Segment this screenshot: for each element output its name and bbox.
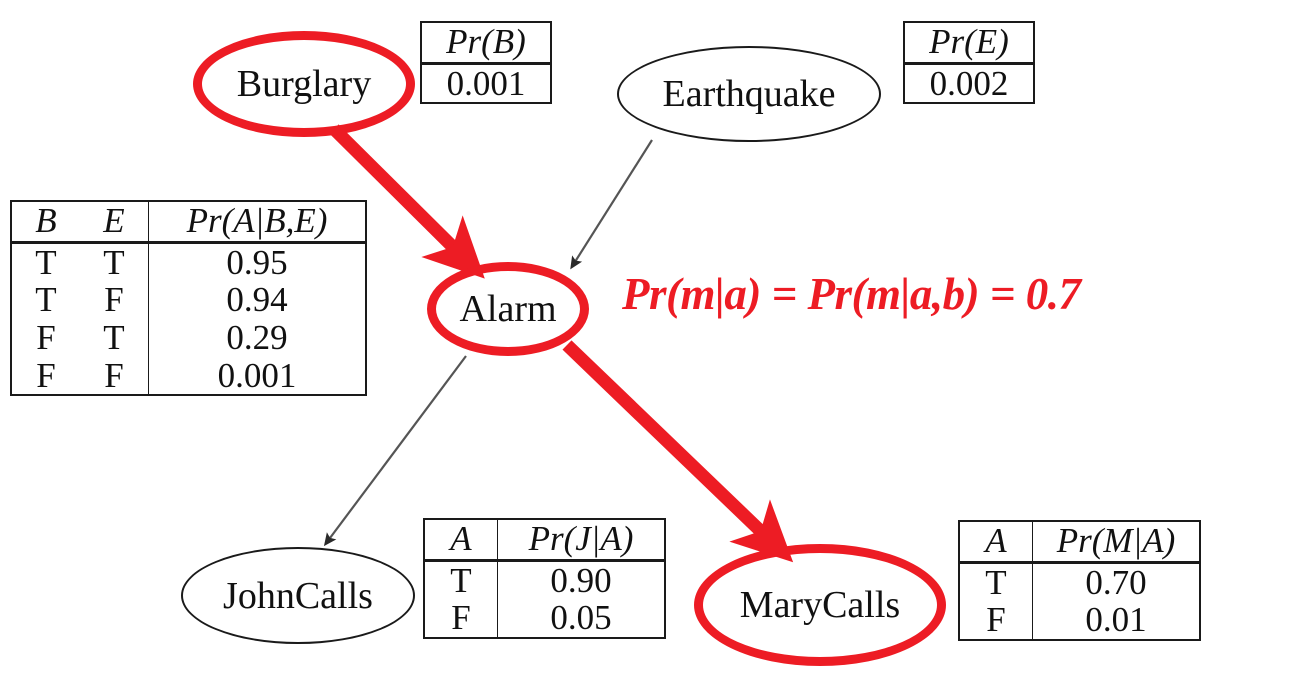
- cell-e-3: T: [80, 319, 149, 357]
- node-alarm[interactable]: Alarm: [427, 262, 589, 356]
- cell-prm-2: 0.01: [1033, 601, 1201, 640]
- table-earthquake-cpt: Pr(E) 0.002: [903, 21, 1035, 104]
- cell-b-3: F: [11, 319, 80, 357]
- table-row: T F 0.94: [11, 281, 366, 319]
- cell-a-john-2: F: [424, 599, 498, 638]
- node-burglary[interactable]: Burglary: [193, 31, 415, 137]
- table-row: A Pr(M|A): [959, 521, 1200, 562]
- table-burglary-cpt: Pr(B) 0.001: [420, 21, 552, 104]
- node-earthquake[interactable]: Earthquake: [617, 46, 881, 142]
- table-row: F T 0.29: [11, 319, 366, 357]
- node-alarm-label: Alarm: [459, 290, 556, 328]
- cell-a-mary-2: F: [959, 601, 1033, 640]
- cell-e-4: F: [80, 357, 149, 396]
- cell-prj-1: 0.90: [498, 560, 666, 599]
- cell-prm-1: 0.70: [1033, 562, 1201, 601]
- cell-pra-4: 0.001: [149, 357, 367, 396]
- cell-b-4: F: [11, 357, 80, 396]
- cell-prj-2: 0.05: [498, 599, 666, 638]
- cell-header-prj: Pr(J|A): [498, 519, 666, 560]
- cell-header-a-mary: A: [959, 521, 1033, 562]
- node-marycalls[interactable]: MaryCalls: [694, 544, 946, 666]
- table-alarm-cpt: B E Pr(A|B,E) T T 0.95 T F 0.94 F T 0.29…: [10, 200, 367, 396]
- edge-earthquake-alarm: [573, 140, 652, 265]
- table-row: F F 0.001: [11, 357, 366, 396]
- cell-prb-value: 0.001: [421, 63, 551, 103]
- table-marycalls-cpt: A Pr(M|A) T 0.70 F 0.01: [958, 520, 1201, 641]
- table-row: T 0.90: [424, 560, 665, 599]
- table-row: T 0.70: [959, 562, 1200, 601]
- table-row: 0.002: [904, 63, 1034, 103]
- table-row: F 0.01: [959, 601, 1200, 640]
- node-burglary-label: Burglary: [237, 65, 371, 103]
- cell-header-pre: Pr(E): [904, 22, 1034, 63]
- table-row: F 0.05: [424, 599, 665, 638]
- bayesian-network-diagram: Burglary Earthquake Alarm JohnCalls Mary…: [0, 0, 1311, 694]
- node-johncalls-label: JohnCalls: [223, 577, 373, 615]
- cell-e-1: T: [80, 242, 149, 281]
- edge-alarm-marycalls: [567, 345, 772, 542]
- cell-a-mary-1: T: [959, 562, 1033, 601]
- table-row: Pr(B): [421, 22, 551, 63]
- table-row: B E Pr(A|B,E): [11, 201, 366, 242]
- node-johncalls[interactable]: JohnCalls: [181, 547, 415, 644]
- cell-b-1: T: [11, 242, 80, 281]
- cell-header-prm: Pr(M|A): [1033, 521, 1201, 562]
- table-row: 0.001: [421, 63, 551, 103]
- cell-header-pra: Pr(A|B,E): [149, 201, 367, 242]
- table-row: T T 0.95: [11, 242, 366, 281]
- annotation-formula: Pr(m|a) = Pr(m|a,b) = 0.7: [622, 268, 1081, 320]
- node-earthquake-label: Earthquake: [662, 75, 835, 113]
- cell-pre-value: 0.002: [904, 63, 1034, 103]
- cell-pra-3: 0.29: [149, 319, 367, 357]
- cell-b-2: T: [11, 281, 80, 319]
- cell-header-b: B: [11, 201, 80, 242]
- node-marycalls-label: MaryCalls: [740, 586, 900, 624]
- cell-e-2: F: [80, 281, 149, 319]
- cell-pra-1: 0.95: [149, 242, 367, 281]
- table-johncalls-cpt: A Pr(J|A) T 0.90 F 0.05: [423, 518, 666, 639]
- cell-header-prb: Pr(B): [421, 22, 551, 63]
- table-row: Pr(E): [904, 22, 1034, 63]
- cell-header-a-john: A: [424, 519, 498, 560]
- cell-pra-2: 0.94: [149, 281, 367, 319]
- cell-a-john-1: T: [424, 560, 498, 599]
- cell-header-e: E: [80, 201, 149, 242]
- table-row: A Pr(J|A): [424, 519, 665, 560]
